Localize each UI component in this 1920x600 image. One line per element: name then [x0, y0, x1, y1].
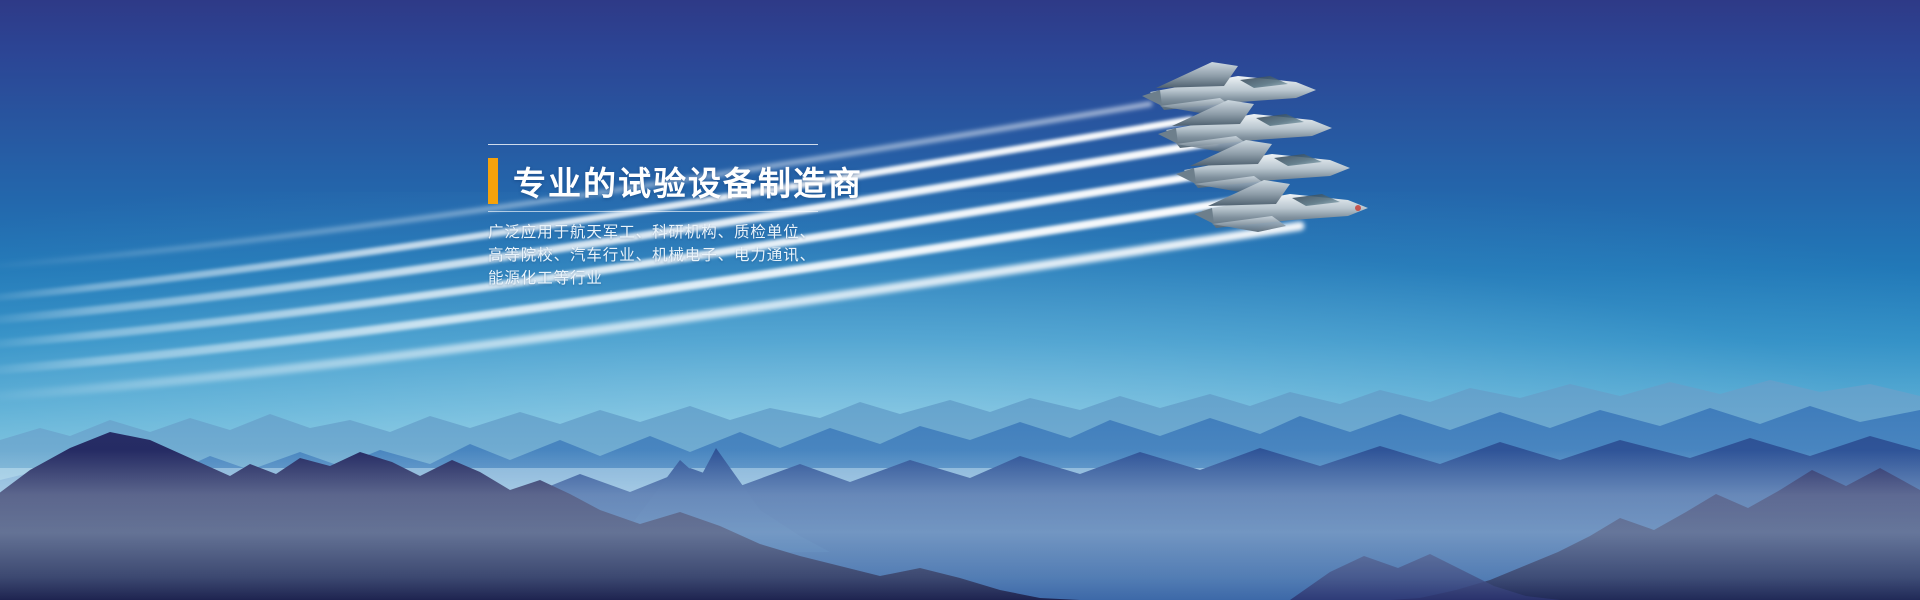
page-title: 专业的试验设备制造商	[513, 157, 863, 205]
hero-banner: 专业的试验设备制造商 广泛应用于航天军工、科研机构、质检单位、 高等院校、汽车行…	[0, 0, 1920, 600]
headline-row: 专业的试验设备制造商	[488, 151, 818, 211]
top-divider-rule	[488, 144, 818, 145]
subtitle-line-3: 能源化工等行业	[488, 267, 818, 290]
subtitle-line-2: 高等院校、汽车行业、机械电子、电力通讯、	[488, 244, 818, 267]
subtitle-line-1: 广泛应用于航天军工、科研机构、质检单位、	[488, 221, 818, 244]
banner-text-block: 专业的试验设备制造商 广泛应用于航天军工、科研机构、质检单位、 高等院校、汽车行…	[488, 144, 818, 290]
bottom-divider-rule	[488, 211, 818, 212]
sky-gradient	[0, 0, 1920, 600]
subtitle-group: 广泛应用于航天军工、科研机构、质检单位、 高等院校、汽车行业、机械电子、电力通讯…	[488, 221, 818, 290]
orange-accent-bar	[488, 158, 498, 204]
